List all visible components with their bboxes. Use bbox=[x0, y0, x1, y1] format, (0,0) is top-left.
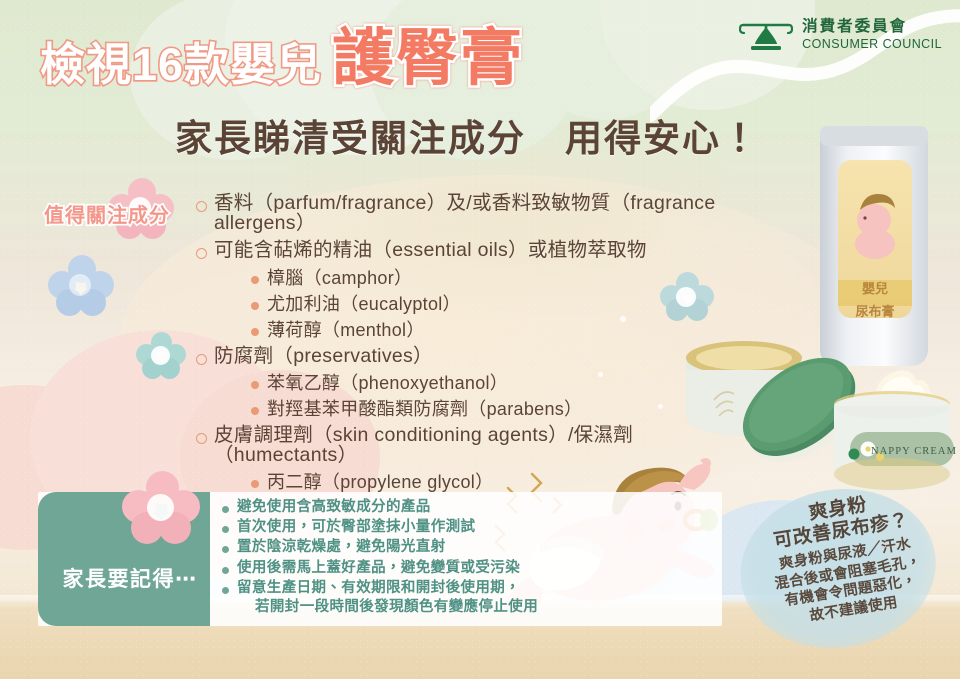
ingredient-item: 可能含萜烯的精油（essential oils）或植物萃取物 bbox=[196, 241, 756, 261]
tip-item: 使用後需馬上蓋好產品，避免變質或受污染 bbox=[222, 561, 702, 576]
tip-label: 置於陰涼乾燥處，避免陽光直射 bbox=[237, 540, 446, 555]
tip-item: 留意生產日期、有效期限和開封後使用期，若開封一段時間後發現顏色有變應停止使用 bbox=[222, 581, 702, 615]
ingredient-label: 對羥基苯甲酸酯類防腐劑（parabens） bbox=[267, 400, 582, 418]
svg-text:尿布膏: 尿布膏 bbox=[855, 304, 894, 319]
ingredient-label: 尤加利油（eucalyptol） bbox=[267, 295, 461, 313]
parent-tips-badge-label: 家長要記得⋯ bbox=[63, 563, 198, 593]
bullet-dot-icon bbox=[222, 567, 229, 574]
bullet-dot-icon bbox=[251, 276, 259, 284]
ingredient-item: 苯氧乙醇（phenoxyethanol） bbox=[251, 374, 756, 392]
tip-item: 首次使用，可於臀部塗抹小量作測試 bbox=[222, 520, 702, 535]
bullet-dot-icon bbox=[251, 480, 259, 488]
tip-label: 留意生產日期、有效期限和開封後使用期，若開封一段時間後發現顏色有變應停止使用 bbox=[237, 581, 538, 615]
ingredient-label: 樟腦（camphor） bbox=[267, 269, 412, 287]
title-part-1: 檢視16款嬰兒 bbox=[40, 42, 322, 87]
parent-tips-list: 避免使用含高致敏成分的產品首次使用，可於臀部塗抹小量作測試置於陰涼乾燥處，避免陽… bbox=[222, 500, 702, 620]
ingredient-label: 薄荷醇（menthol） bbox=[267, 321, 425, 339]
ingredient-label: 苯氧乙醇（phenoxyethanol） bbox=[267, 374, 508, 392]
tip-label-continued: 若開封一段時間後發現顏色有變應停止使用 bbox=[255, 600, 538, 615]
nappy-cream-jar-illustration: NAPPY CREAM bbox=[828, 348, 956, 496]
bullet-dot-icon bbox=[222, 546, 229, 553]
bullet-circle-icon bbox=[196, 201, 207, 212]
svg-text:嬰兒: 嬰兒 bbox=[862, 281, 888, 296]
ingredient-item: 香料（parfum/fragrance）及/或香料致敏物質（fragrance … bbox=[196, 194, 756, 233]
subtitle: 家長睇清受關注成分 用得安心！ bbox=[175, 108, 760, 162]
tip-label: 使用後需馬上蓋好產品，避免變質或受污染 bbox=[237, 561, 520, 576]
attention-ingredients-label: 值得關注成分 bbox=[44, 199, 170, 228]
nappy-cream-tube-illustration: 嬰兒 尿布膏 bbox=[812, 120, 938, 370]
bullet-dot-icon bbox=[251, 407, 259, 415]
bullet-dot-icon bbox=[222, 526, 229, 533]
bullet-circle-icon bbox=[196, 354, 207, 365]
tip-item: 避免使用含高致敏成分的產品 bbox=[222, 500, 702, 515]
ingredient-item: 尤加利油（eucalyptol） bbox=[251, 295, 756, 313]
ingredient-label: 可能含萜烯的精油（essential oils）或植物萃取物 bbox=[214, 241, 647, 261]
main-title: 檢視16款嬰兒 護臀膏 bbox=[40, 28, 800, 87]
bullet-dot-icon bbox=[251, 381, 259, 389]
ingredient-label: 防腐劑（preservatives） bbox=[214, 347, 433, 367]
ingredients-list: 香料（parfum/fragrance）及/或香料致敏物質（fragrance … bbox=[196, 194, 756, 499]
bullet-circle-icon bbox=[196, 433, 207, 444]
ingredient-label: 丙二醇（propylene glycol） bbox=[267, 473, 493, 491]
bullet-dot-icon bbox=[222, 506, 229, 513]
tip-label: 避免使用含高致敏成分的產品 bbox=[237, 500, 431, 515]
flower-teal-left bbox=[136, 332, 186, 380]
infographic-poster: 嬰兒 尿布膏 bbox=[0, 0, 960, 679]
bullet-dot-icon bbox=[251, 328, 259, 336]
tip-item: 置於陰涼乾燥處，避免陽光直射 bbox=[222, 540, 702, 555]
ingredient-item: 樟腦（camphor） bbox=[251, 269, 756, 287]
logo-text: 消費者委員會 CONSUMER COUNCIL bbox=[802, 19, 942, 53]
flower-blue-left bbox=[48, 255, 114, 317]
bullet-dot-icon bbox=[251, 302, 259, 310]
ingredient-item: 防腐劑（preservatives） bbox=[196, 347, 756, 367]
ingredient-item: 對羥基苯甲酸酯類防腐劑（parabens） bbox=[251, 400, 756, 418]
tip-label: 首次使用，可於臀部塗抹小量作測試 bbox=[237, 520, 475, 535]
flower-pink-tips bbox=[122, 471, 200, 545]
ingredient-item: 丙二醇（propylene glycol） bbox=[251, 473, 756, 491]
logo-text-zh: 消費者委員會 bbox=[802, 18, 907, 35]
logo-text-en: CONSUMER COUNCIL bbox=[802, 37, 942, 51]
ingredient-item: 薄荷醇（menthol） bbox=[251, 321, 756, 339]
bullet-dot-icon bbox=[222, 587, 229, 594]
title-part-2: 護臀膏 bbox=[332, 28, 524, 90]
ingredient-label: 皮膚調理劑（skin conditioning agents）/保濕劑（hume… bbox=[214, 426, 756, 465]
svg-text:NAPPY CREAM: NAPPY CREAM bbox=[871, 446, 956, 457]
baby-powder-note: 爽身粉 可改善尿布疹？ 爽身粉與尿液／汗水 混合後或會阻塞毛孔， 有機會令問題惡… bbox=[734, 477, 960, 669]
bullet-circle-icon bbox=[196, 248, 207, 259]
ingredient-item: 皮膚調理劑（skin conditioning agents）/保濕劑（hume… bbox=[196, 426, 756, 465]
ingredient-label: 香料（parfum/fragrance）及/或香料致敏物質（fragrance … bbox=[214, 194, 756, 233]
